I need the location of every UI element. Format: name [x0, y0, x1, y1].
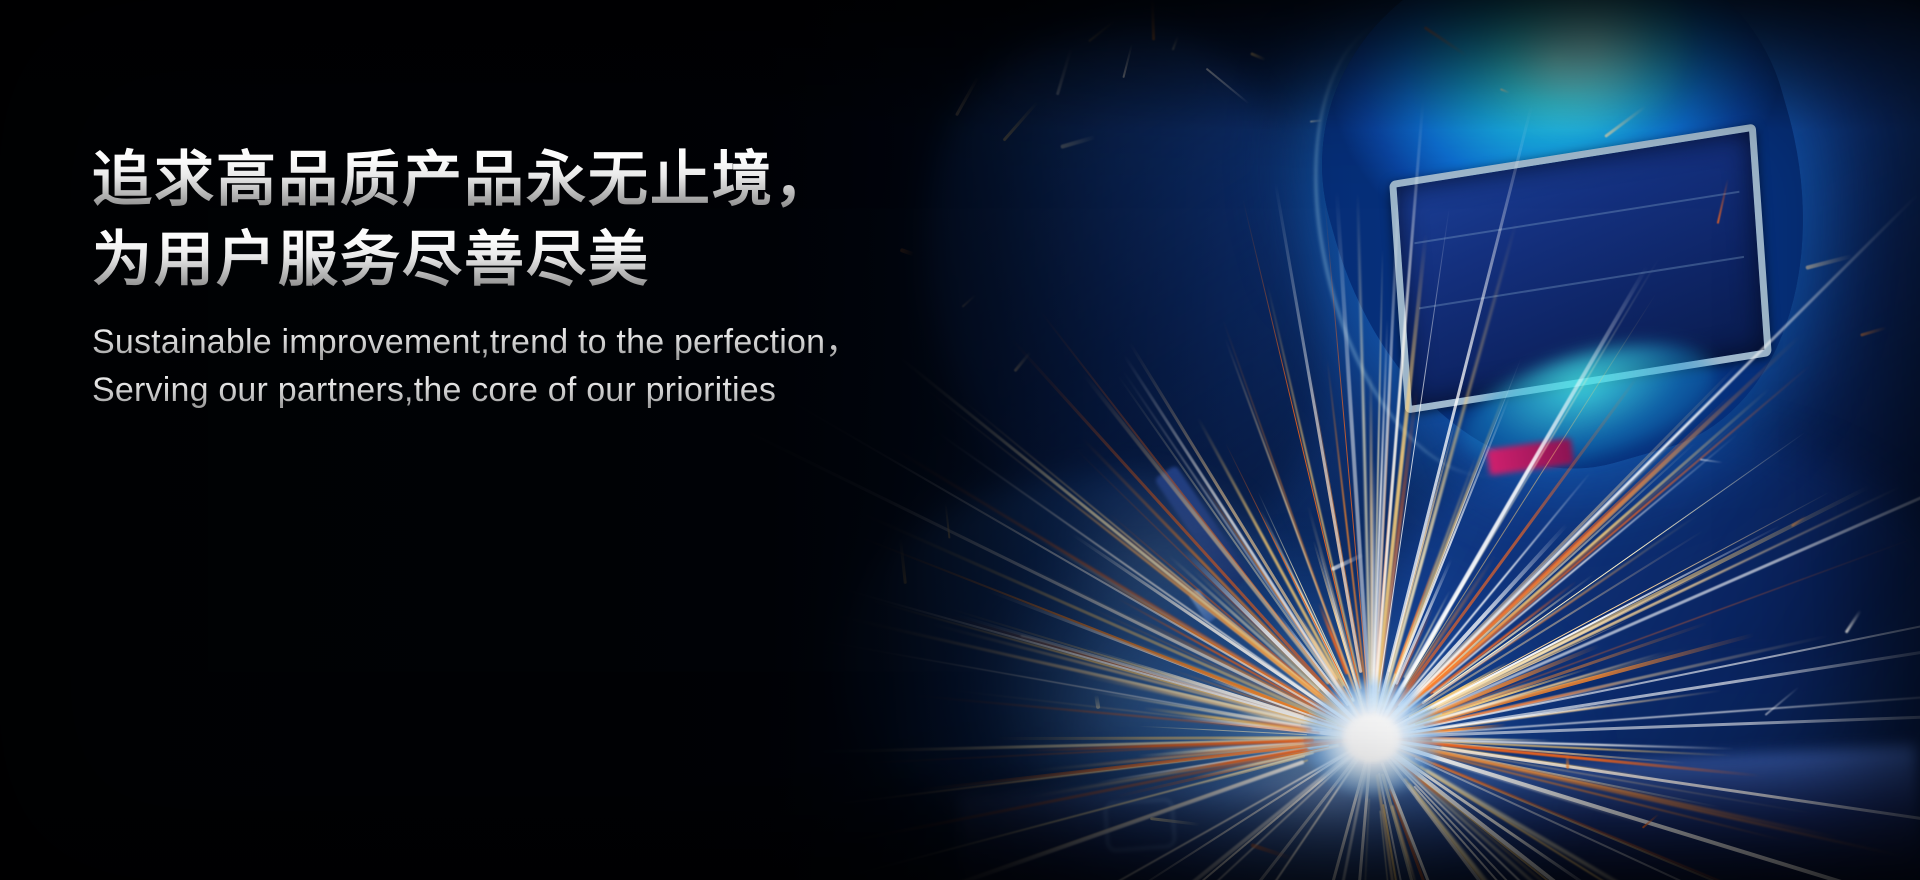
- background-photo: [0, 0, 1920, 880]
- left-black-fade: [0, 0, 1920, 880]
- headline-line-2: 为用户服务尽善尽美: [92, 220, 992, 300]
- banner-copy: 追求高品质产品永无止境， 为用户服务尽善尽美 Sustainable impro…: [92, 140, 992, 414]
- subtitle-line-2: Serving our partners,the core of our pri…: [92, 366, 992, 414]
- hero-banner: 追求高品质产品永无止境， 为用户服务尽善尽美 Sustainable impro…: [0, 0, 1920, 880]
- headline-line-1: 追求高品质产品永无止境，: [92, 140, 992, 220]
- subtitle-block: Sustainable improvement,trend to the per…: [92, 318, 992, 414]
- subtitle-line-1: Sustainable improvement,trend to the per…: [92, 318, 992, 366]
